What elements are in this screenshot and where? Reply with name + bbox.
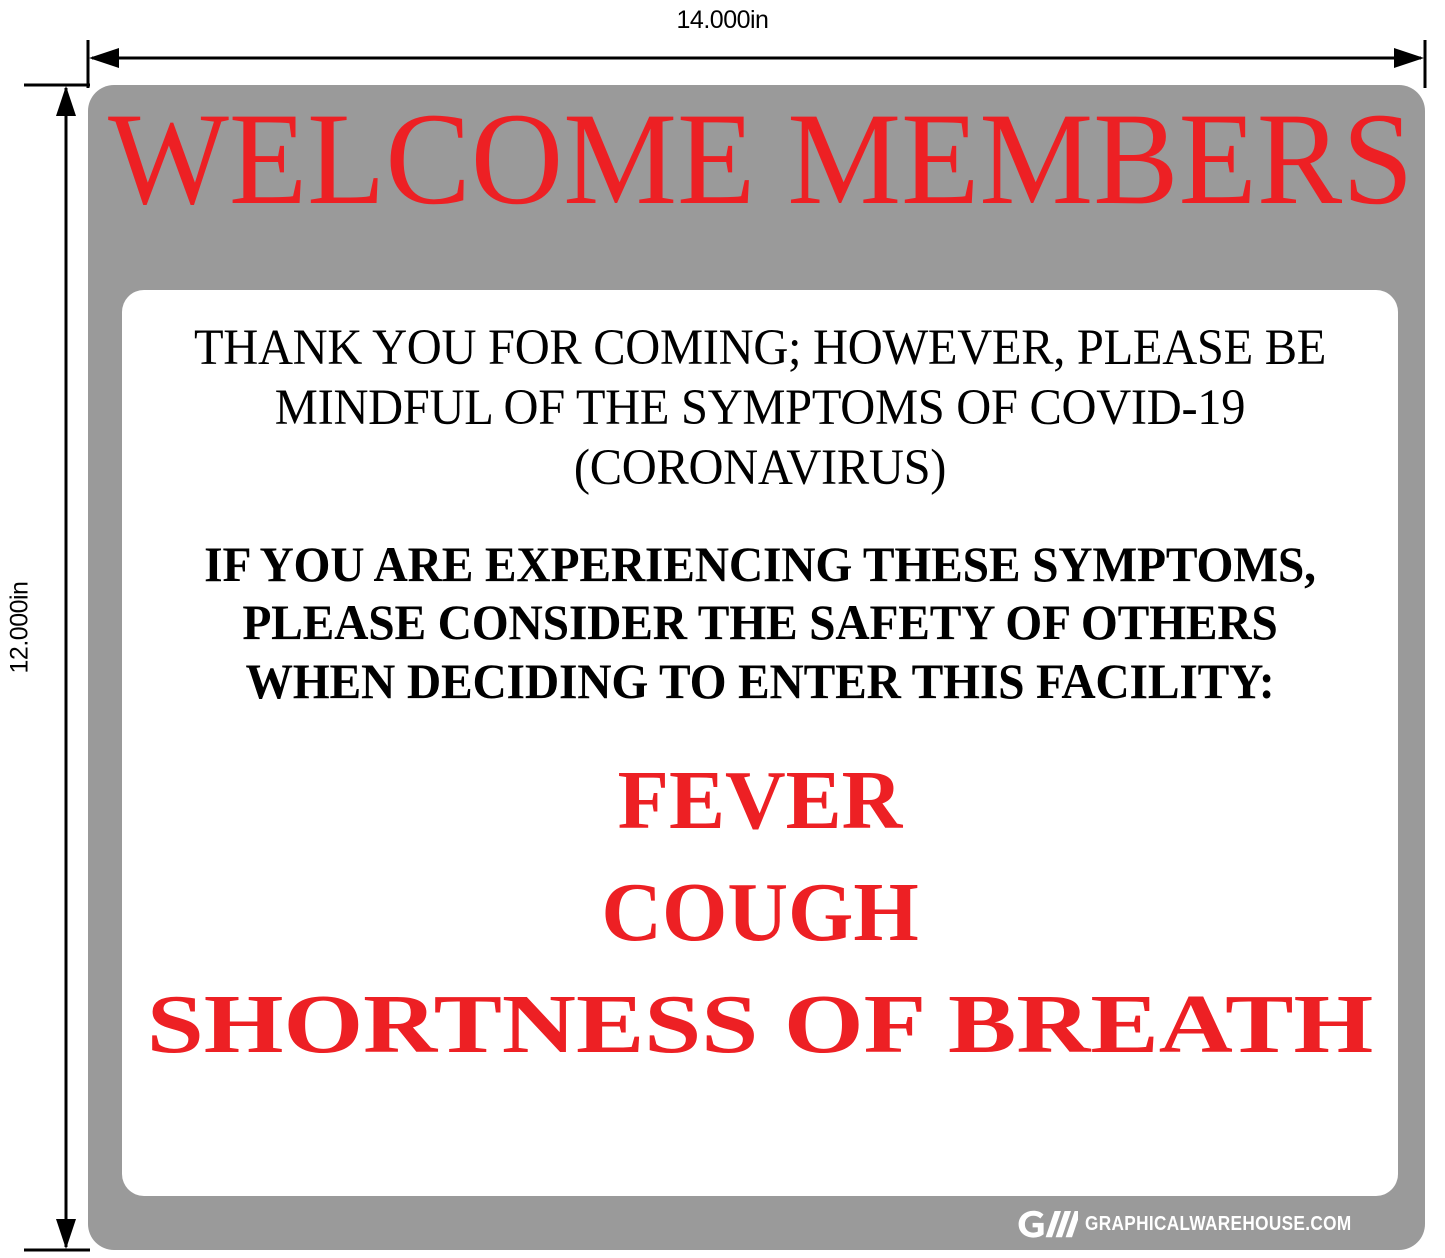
symptom-list: FEVER COUGH SHORTNESS OF BREATH [144,754,1376,1072]
symptom-item: SHORTNESS OF BREATH [8,978,1445,1072]
width-dimension-label: 14.000in [0,6,1445,35]
height-dimension-label: 12.000in [6,568,35,688]
sign-body-panel: THANK YOU FOR COMING; HOWEVER, PLEASE BE… [122,290,1398,1196]
symptom-item: COUGH [144,866,1376,960]
width-arrowhead-right-icon [1394,48,1424,68]
brand-name: GRAPHICALWAREHOUSE.COM [1085,1213,1352,1236]
height-arrowhead-bottom-icon [56,1219,76,1249]
instruction-paragraph: IF YOU ARE EXPERIENCING THESE SYMPTOMS, … [175,535,1345,711]
sign-plate: WELCOME MEMBERS THANK YOU FOR COMING; HO… [88,85,1425,1250]
graphical-warehouse-g-slashes-icon [1016,1210,1078,1238]
brand-logo: GRAPHICALWAREHOUSE.COM [1016,1210,1395,1238]
width-arrowhead-left-icon [89,48,119,68]
height-arrowhead-top-icon [56,86,76,116]
sign-title: WELCOME MEMBERS [108,93,1405,225]
symptom-item: FEVER [144,754,1376,848]
intro-paragraph: THANK YOU FOR COMING; HOWEVER, PLEASE BE… [175,318,1345,499]
